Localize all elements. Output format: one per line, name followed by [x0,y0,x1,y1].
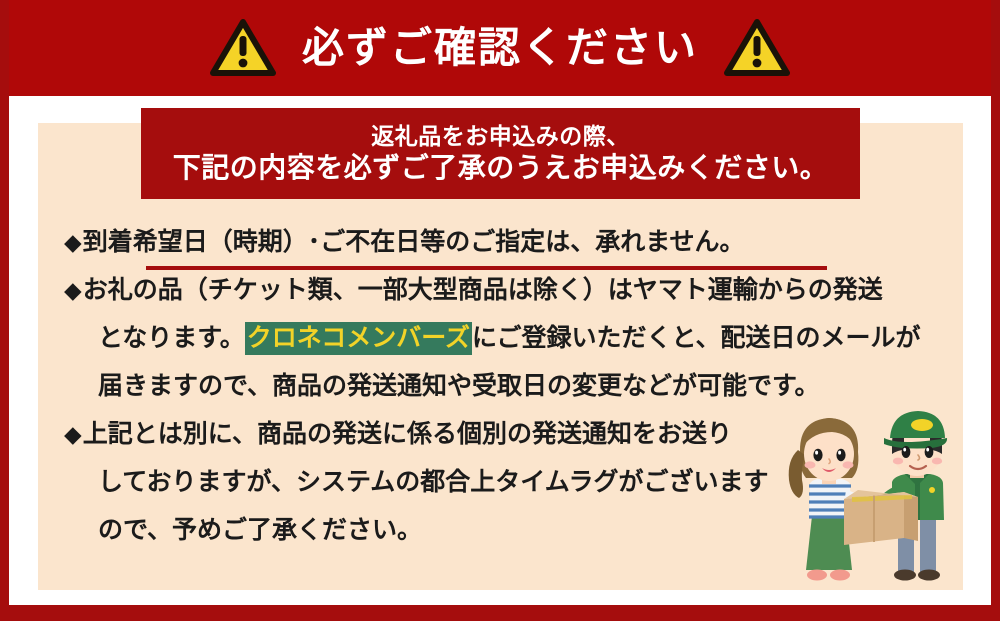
sub-banner-line-2: 下記の内容を必ずご了承のうえお申込みください。 [173,152,829,184]
sub-banner-line-1: 返礼品をお申込みの際、 [371,123,630,149]
page-title: 必ずご確認ください [302,27,698,69]
delivery-handover-illustration [772,398,962,590]
notice-text-2: お礼の品（チケット類、一部大型商品は除く）はヤマト運輸からの発送 [83,276,883,304]
bullet-diamond-1: ◆ [64,229,83,255]
notice-text-1: 到着希望日（時期）･ご不在日等のご指定は、承れません。 [83,228,745,256]
kuroneko-members-highlight: クロネコメンバーズ [245,322,472,355]
notice-item-3: となります。クロネコメンバーズにご登録いただくと、配送日のメールが [64,314,924,362]
warning-triangle-icon-left [210,19,276,77]
notice-banner-page: 必ずご確認ください 返礼品をお申込みの際、 下記の内容を必ずご了承のうえお申込み… [0,0,1000,621]
notice-item-1: ◆到着希望日（時期）･ご不在日等のご指定は、承れません。 [64,218,924,266]
notice-text-3-before: となります。 [98,324,245,352]
sub-banner: 返礼品をお申込みの際、 下記の内容を必ずご了承のうえお申込みください。 [141,108,860,199]
notice-text-4: 届きますので、商品の発送通知や受取日の変更などが可能です。 [98,372,820,400]
warning-triangle-icon-right [724,19,790,77]
bullet-diamond-3: ◆ [64,421,83,447]
frame-bottom-border [0,605,1000,621]
notice-text-5: 上記とは別に、商品の発送に係る個別の発送通知をお送り [83,420,732,448]
bullet-diamond-2: ◆ [64,277,83,303]
notice-text-6: しておりますが、システムの都合上タイムラグがございます [98,468,769,496]
notice-text-3-after: にご登録いただくと、配送日のメールが [472,324,921,352]
header-banner: 必ずご確認ください [0,0,1000,96]
notice-text-7: ので、予めご了承ください。 [98,516,422,544]
cardboard-box [844,490,918,545]
notice-underline [146,266,827,270]
notice-item-2: ◆お礼の品（チケット類、一部大型商品は除く）はヤマト運輸からの発送 [64,266,924,314]
